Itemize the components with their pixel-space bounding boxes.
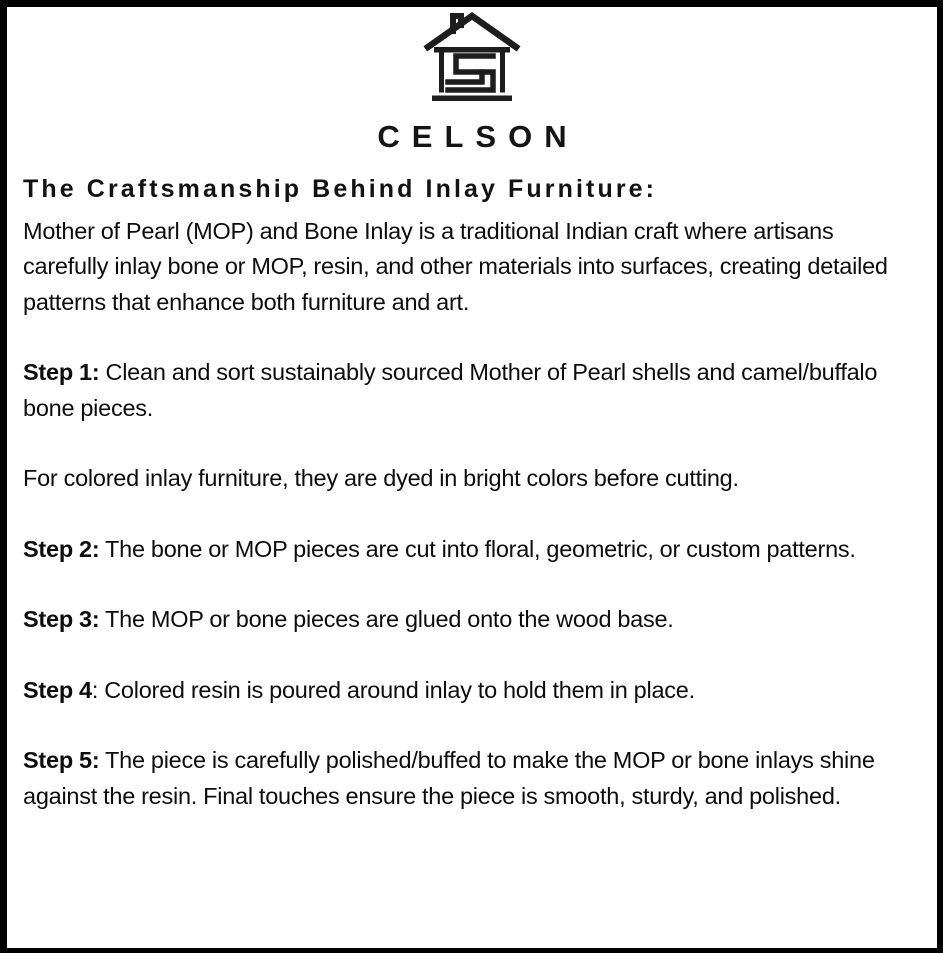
paragraph-text: Colored resin is poured around inlay to …: [98, 677, 695, 703]
poster-card: CELSON The Craftsmanship Behind Inlay Fu…: [0, 0, 943, 953]
paragraph-step-2: Step 2: The bone or MOP pieces are cut i…: [23, 532, 911, 568]
paragraph-step-4: Step 4: Colored resin is poured around i…: [23, 673, 911, 709]
paragraph-step-5: Step 5: The piece is carefully polished/…: [23, 743, 911, 814]
paragraph-lead: Step 5:: [23, 747, 99, 773]
body-copy: Mother of Pearl (MOP) and Bone Inlay is …: [23, 204, 911, 815]
paragraph-text: For colored inlay furniture, they are dy…: [23, 465, 739, 491]
paragraph-text: Mother of Pearl (MOP) and Bone Inlay is …: [23, 218, 888, 315]
paragraph-text: The bone or MOP pieces are cut into flor…: [99, 536, 855, 562]
paragraph-lead: Step 4: [23, 677, 92, 703]
paragraph-text: The MOP or bone pieces are glued onto th…: [99, 606, 673, 632]
paragraph-lead: Step 1:: [23, 359, 99, 385]
paragraph-text: Clean and sort sustainably sourced Mothe…: [23, 359, 877, 421]
poster-inner: CELSON The Craftsmanship Behind Inlay Fu…: [7, 7, 937, 948]
paragraph-step-1: Step 1: Clean and sort sustainably sourc…: [23, 355, 911, 426]
paragraph-step-3: Step 3: The MOP or bone pieces are glued…: [23, 602, 911, 638]
paragraph-intro: Mother of Pearl (MOP) and Bone Inlay is …: [23, 214, 911, 321]
page-title: The Craftsmanship Behind Inlay Furniture…: [23, 174, 928, 204]
paragraph-lead: Step 3:: [23, 606, 99, 632]
paragraph-text: The piece is carefully polished/buffed t…: [23, 747, 875, 809]
paragraph-lead: Step 2:: [23, 536, 99, 562]
paragraph-dye-note: For colored inlay furniture, they are dy…: [23, 461, 911, 497]
brand-wordmark: CELSON: [16, 121, 928, 154]
house-monogram-icon: [420, 11, 524, 111]
brand-block: CELSON: [16, 7, 928, 154]
